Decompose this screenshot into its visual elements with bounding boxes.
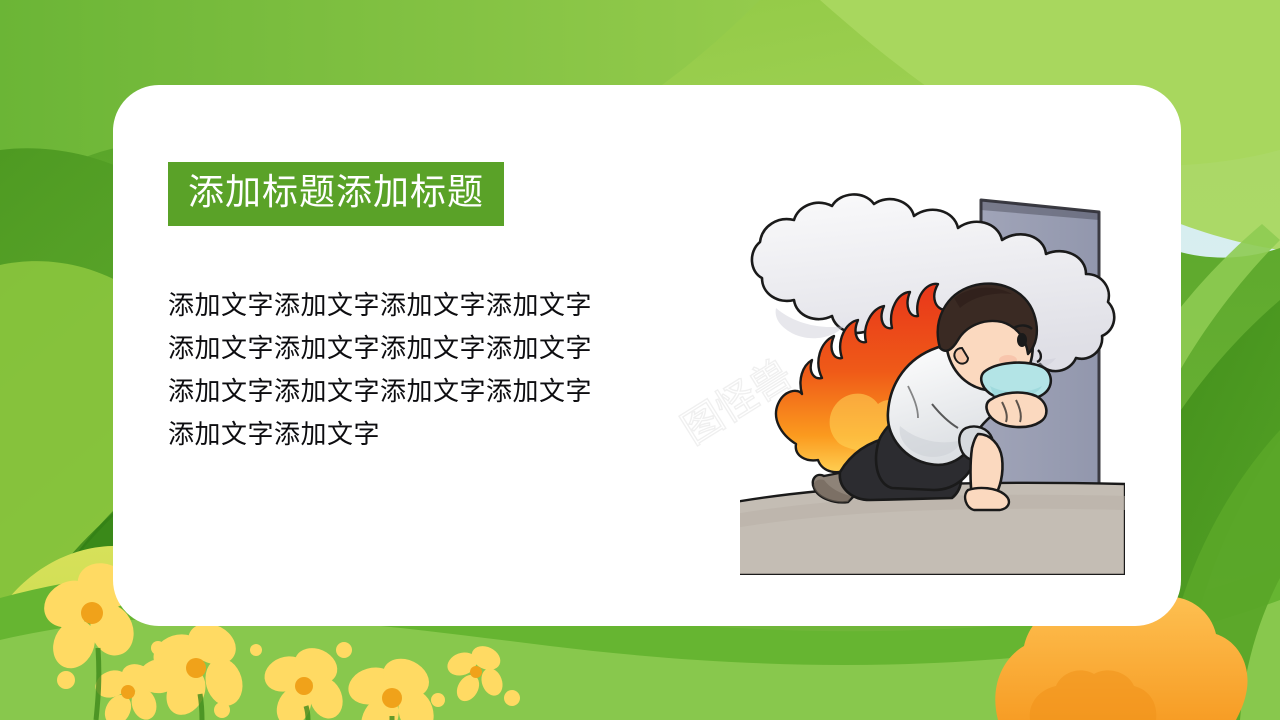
body-line: 添加文字添加文字添加文字添加文字 [168, 284, 748, 327]
text-column: 添加标题添加标题 添加文字添加文字添加文字添加文字 添加文字添加文字添加文字添加… [168, 162, 748, 456]
flower-dot [336, 642, 352, 658]
flower-dot [504, 690, 520, 706]
flower-dot [431, 693, 445, 707]
arm-cloth [987, 393, 1047, 428]
title-badge: 添加标题添加标题 [168, 162, 504, 226]
body-line: 添加文字添加文字 [168, 413, 748, 456]
fire-escape-crawl-illustration [740, 190, 1125, 575]
flower-dot [151, 641, 165, 655]
body-paragraph: 添加文字添加文字添加文字添加文字 添加文字添加文字添加文字添加文字 添加文字添加… [168, 284, 748, 456]
body-line: 添加文字添加文字添加文字添加文字 [168, 327, 748, 370]
content-card: 添加标题添加标题 添加文字添加文字添加文字添加文字 添加文字添加文字添加文字添加… [113, 85, 1181, 626]
flower-dot [57, 671, 75, 689]
page-title: 添加标题添加标题 [188, 169, 484, 215]
body-line: 添加文字添加文字添加文字添加文字 [168, 370, 748, 413]
flower-dot [214, 702, 230, 718]
eye [1017, 333, 1027, 347]
slide-canvas: 添加标题添加标题 添加文字添加文字添加文字添加文字 添加文字添加文字添加文字添加… [0, 0, 1280, 720]
flower-dot [250, 644, 262, 656]
